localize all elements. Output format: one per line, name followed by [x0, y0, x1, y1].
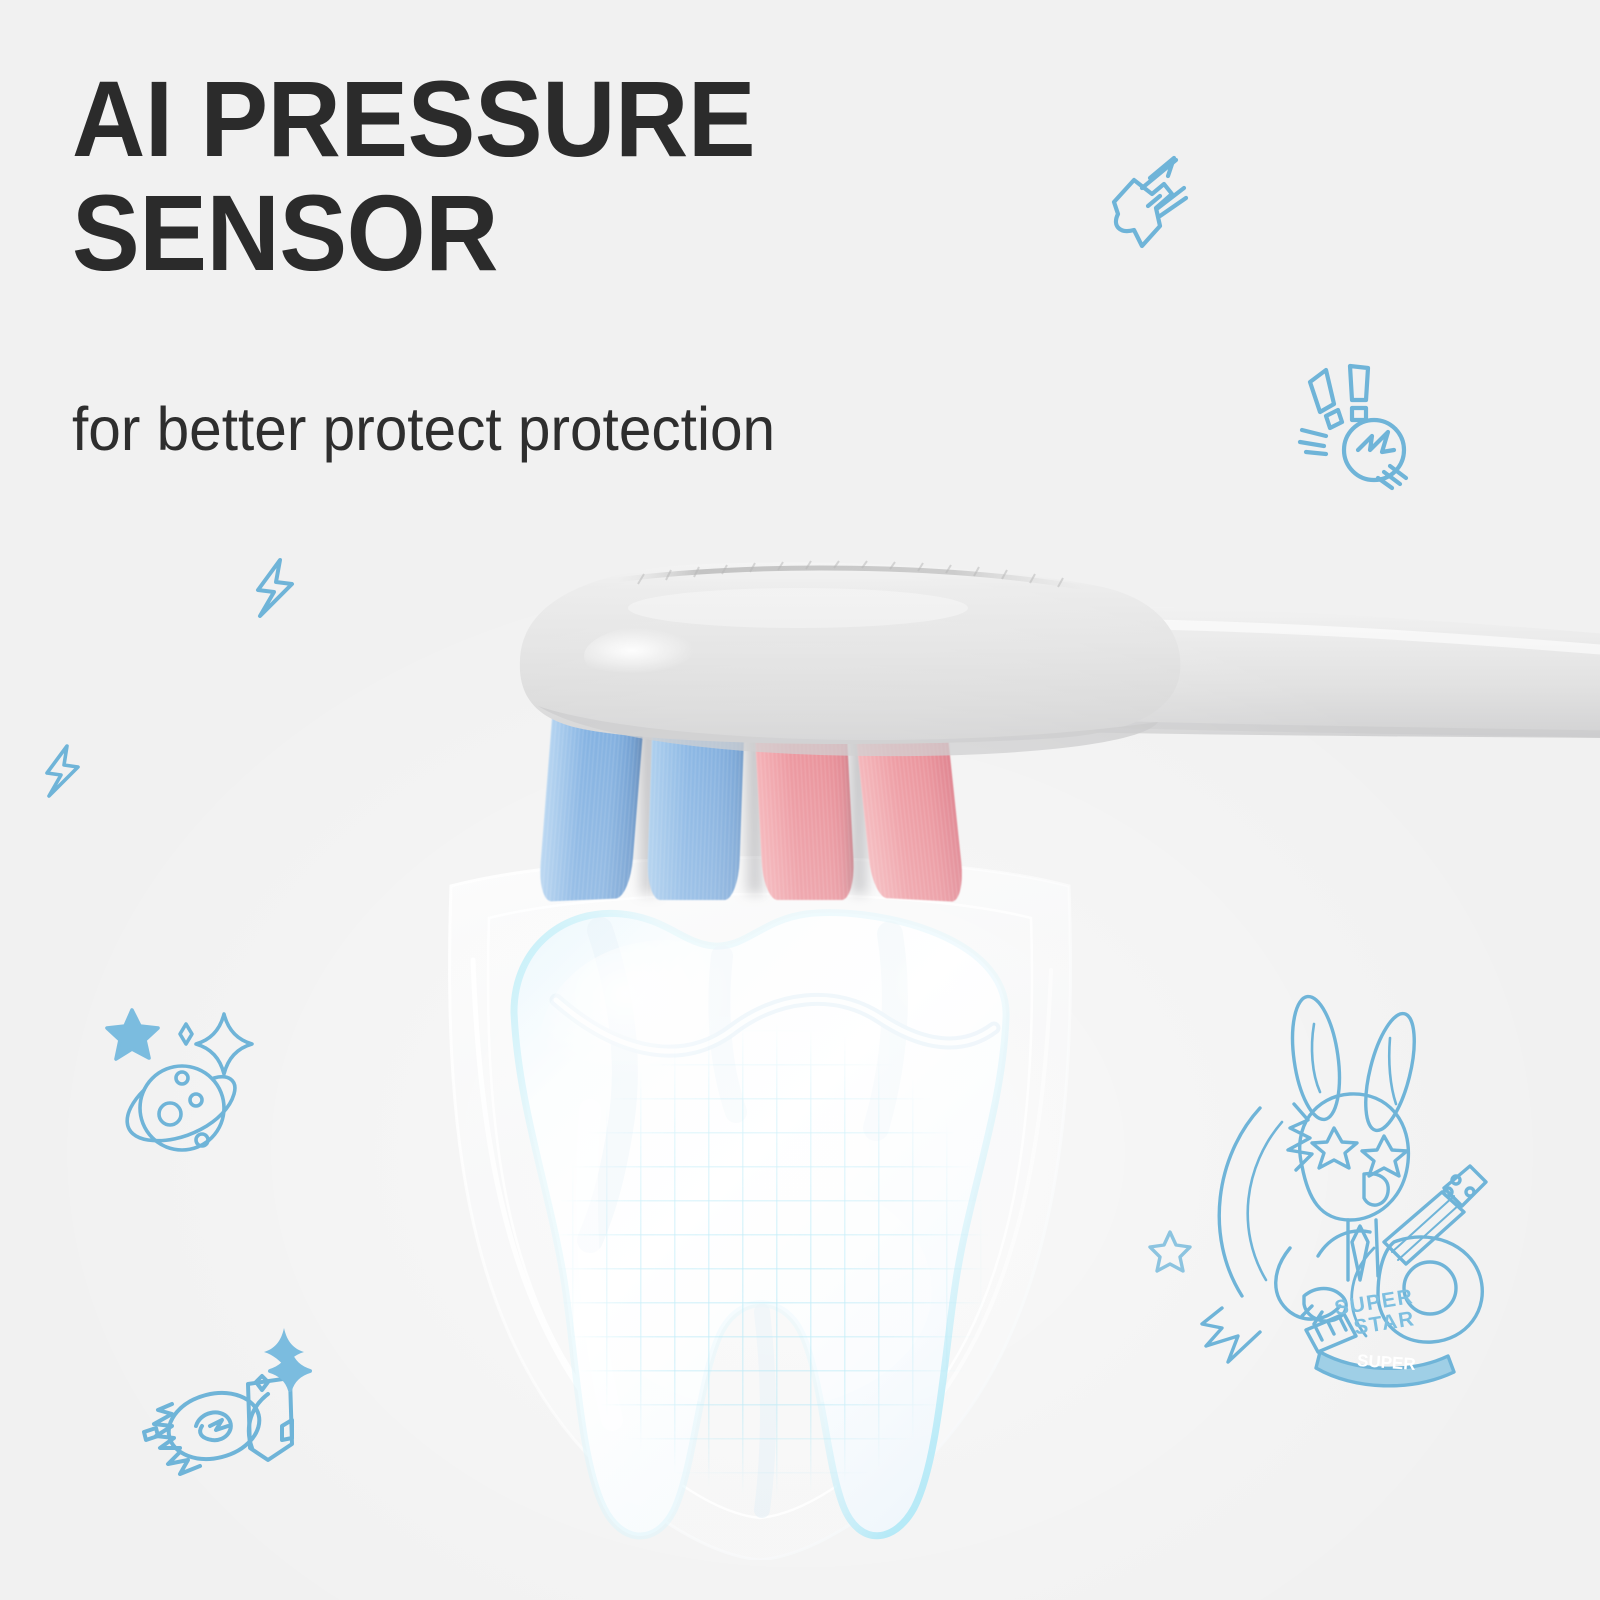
toothbrush-head-and-handle: [498, 548, 1600, 928]
page-subtitle: for better protect protection: [72, 396, 775, 463]
tooth-scan-grid: [470, 860, 1050, 1550]
molar-tooth: [470, 860, 1050, 1550]
page-title: AI PRESSURE SENSOR: [72, 62, 1012, 291]
poster-canvas: SUPER SUPER STAR AI PRESSURE SENSOR for …: [0, 0, 1600, 1600]
